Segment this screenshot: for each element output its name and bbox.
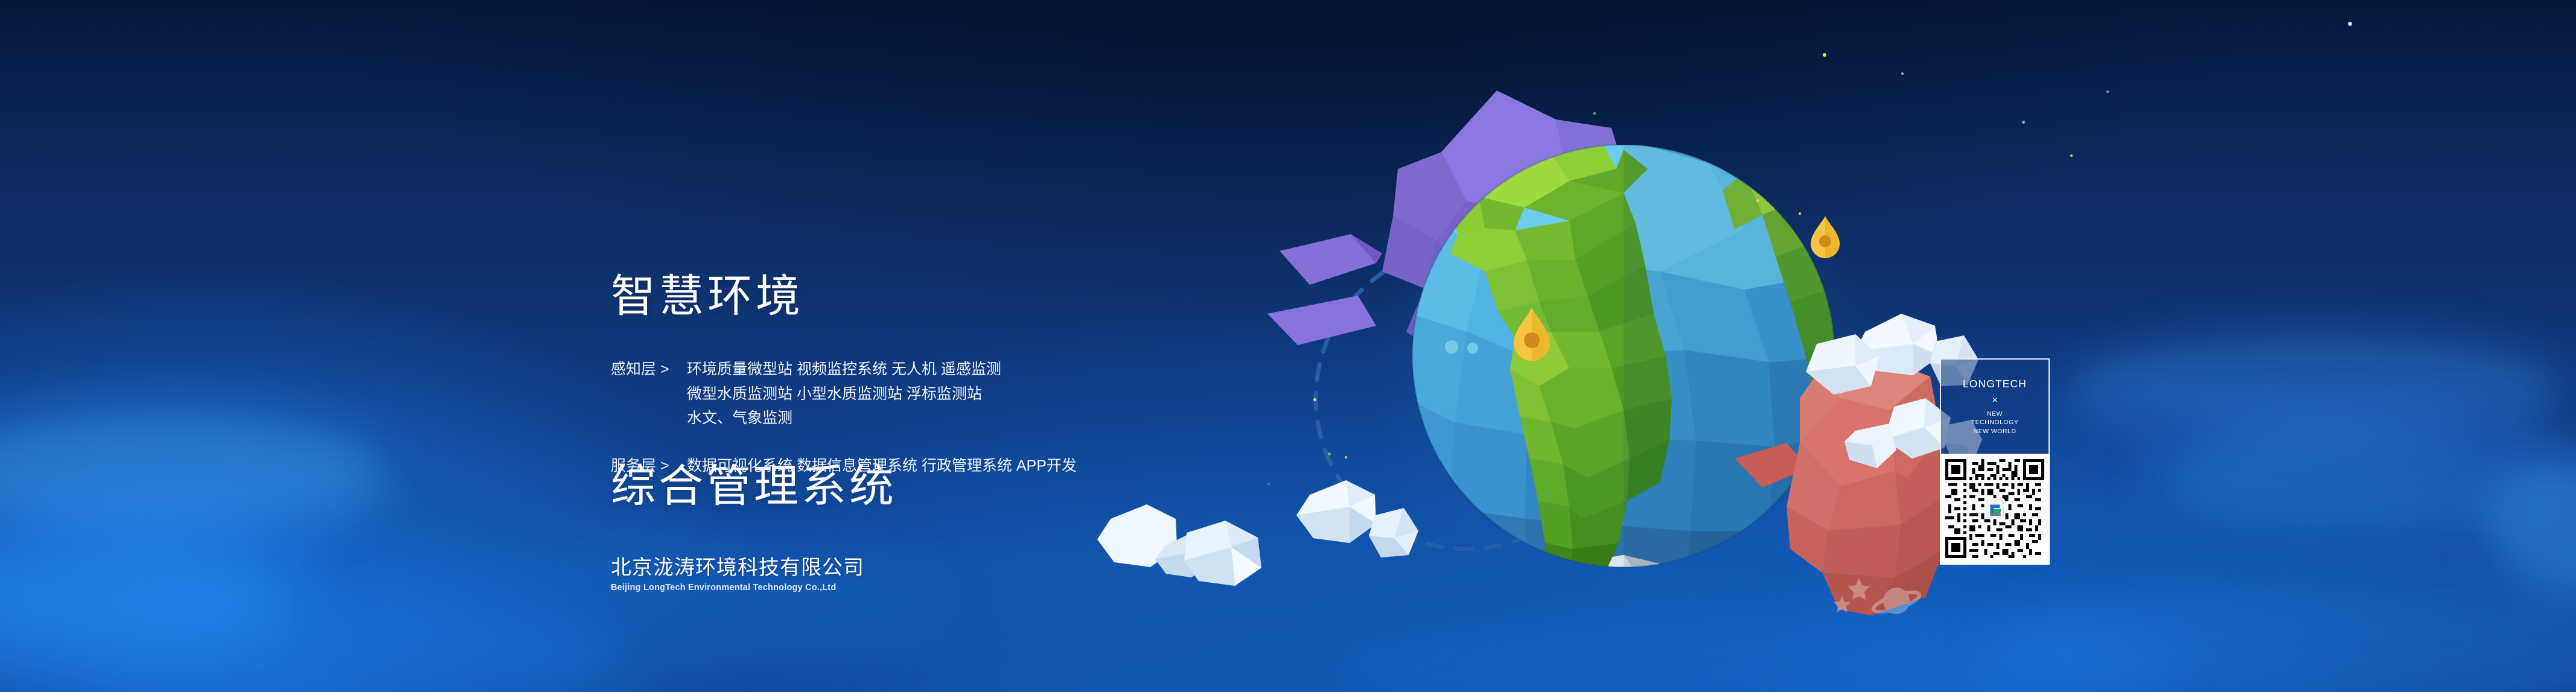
star-dot — [1823, 53, 1826, 57]
layer-row-sensing: 感知层 > 环境质量微型站 视频监控系统 无人机 遥感监测 微型水质监测站 小型… — [611, 357, 1077, 431]
layer-item-line[interactable]: 数据可视化系统 数据信息管理系统 行政管理系统 APP开发 — [687, 454, 1077, 478]
star-dot — [1901, 72, 1904, 75]
layer-row-service: 服务层 > 数据可视化系统 数据信息管理系统 行政管理系统 APP开发 — [611, 454, 1077, 478]
layer-item-line[interactable]: 微型水质监测站 小型水质监测站 浮标监测站 — [687, 382, 1001, 407]
layer-items: 数据可视化系统 数据信息管理系统 行政管理系统 APP开发 — [687, 454, 1077, 478]
star-dot — [1593, 112, 1596, 115]
qr-tagline-line-1: NEW — [1971, 410, 2019, 418]
star-dot — [1756, 199, 1759, 202]
qr-code-panel[interactable] — [1940, 454, 2050, 565]
company-name-en: Beijing LongTech Environmental Technolog… — [611, 583, 864, 592]
star-dot — [1328, 452, 1331, 456]
layer-items: 环境质量微型站 视频监控系统 无人机 遥感监测 微型水质监测站 小型水质监测站 … — [687, 357, 1001, 431]
star-dot — [1345, 456, 1347, 459]
layer-item-line[interactable]: 环境质量微型站 视频监控系统 无人机 遥感监测 — [687, 357, 1001, 382]
star-dot — [1799, 212, 1801, 215]
qr-tagline: NEW TECHNOLOGY NEW WORLD — [1971, 410, 2019, 435]
globe-illustration — [1286, 72, 1998, 652]
banner-root: 智慧环境 综合管理系统 感知层 > 环境质量微型站 视频监控系统 无人机 遥感监… — [0, 0, 2576, 692]
qr-card-header: LONGTECH × NEW TECHNOLOGY NEW WORLD — [1940, 358, 2050, 454]
qr-tagline-line-3: NEW WORLD — [1971, 427, 2019, 436]
star-dot — [2348, 22, 2352, 26]
star-dot — [2106, 90, 2109, 93]
cloud-icon — [1129, 510, 1310, 606]
qr-brand-name: LONGTECH — [1963, 378, 2027, 390]
qr-tagline-line-2: TECHNOLOGY — [1971, 418, 2019, 427]
cross-icon: × — [1992, 396, 1997, 405]
globe-dot — [1467, 343, 1478, 354]
star-dot — [1267, 483, 1270, 485]
company-name-cn: 北京泷涛环境科技有限公司 — [611, 555, 864, 581]
star-dot — [2070, 154, 2073, 157]
layer-item-line[interactable]: 水文、气象监测 — [687, 406, 1001, 431]
layer-list: 感知层 > 环境质量微型站 视频监控系统 无人机 遥感监测 微型水质监测站 小型… — [611, 357, 1077, 498]
star-dot — [1313, 398, 1316, 401]
layer-label: 感知层 > — [611, 357, 687, 382]
map-pin-icon — [1811, 216, 1840, 258]
headline-line-1: 智慧环境 — [611, 264, 897, 328]
wechat-qr-code-icon[interactable] — [1945, 459, 2044, 558]
globe-dot — [1445, 340, 1458, 354]
company-block: 北京泷涛环境科技有限公司 Beijing LongTech Environmen… — [611, 555, 864, 592]
star-dot — [2022, 121, 2025, 124]
layer-label: 服务层 > — [611, 454, 687, 478]
qr-card: LONGTECH × NEW TECHNOLOGY NEW WORLD — [1940, 358, 2050, 565]
